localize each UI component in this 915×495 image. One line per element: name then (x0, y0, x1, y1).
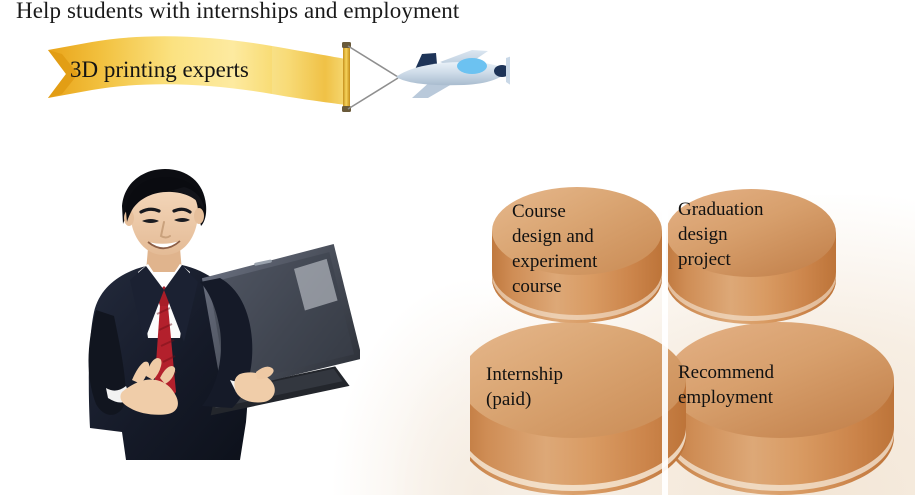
cylinder-label-recommend-employment: Recommend employment (678, 360, 828, 410)
businessman-with-laptop-photo (60, 160, 360, 460)
banner-group: 3D printing experts (40, 32, 510, 122)
cylinder-diagram: Course design and experiment course Grad… (470, 165, 915, 495)
slide-canvas: Help students with internships and emplo… (0, 0, 915, 495)
airplane-icon (40, 32, 510, 122)
cylinder-label-internship: Internship (paid) (486, 362, 626, 412)
cylinder-label-graduation-design: Graduation design project (678, 197, 818, 272)
page-title: Help students with internships and emplo… (16, 0, 459, 24)
cylinder-label-course-design: Course design and experiment course (512, 199, 652, 299)
